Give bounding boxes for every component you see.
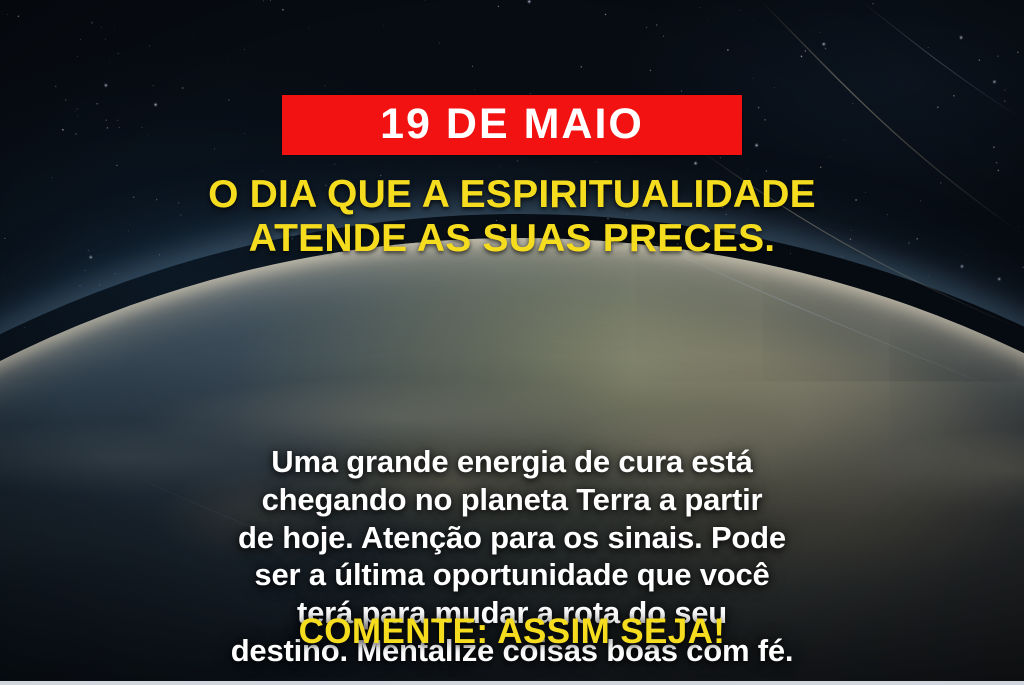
headline-line-2: ATENDE AS SUAS PRECES. <box>72 217 952 261</box>
body-copy-line-3: de hoje. Atenção para os sinais. Pode <box>62 519 962 557</box>
date-banner-label: 19 DE MAIO <box>380 103 644 146</box>
headline: O DIA QUE A ESPIRITUALIDADE ATENDE AS SU… <box>72 173 952 260</box>
body-copy-line-2: chegando no planeta Terra a partir <box>62 481 962 519</box>
poster-canvas: 19 DE MAIO O DIA QUE A ESPIRITUALIDADE A… <box>0 0 1024 685</box>
bottom-frame-edge <box>0 681 1024 685</box>
date-banner: 19 DE MAIO <box>282 95 742 155</box>
body-copy-line-4: ser a última oportunidade que você <box>62 556 962 594</box>
poster-content: 19 DE MAIO O DIA QUE A ESPIRITUALIDADE A… <box>0 0 1024 685</box>
call-to-action-text: COMENTE: ASSIM SEJA! <box>0 612 1024 652</box>
headline-line-1: O DIA QUE A ESPIRITUALIDADE <box>72 173 952 217</box>
body-copy-line-1: Uma grande energia de cura está <box>62 443 962 481</box>
